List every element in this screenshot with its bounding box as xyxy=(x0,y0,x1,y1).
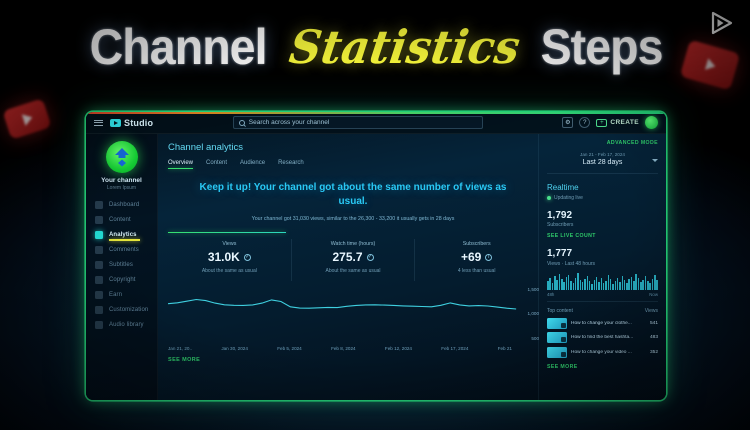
sidebar-item-label: Analytics xyxy=(109,232,137,238)
status-badge: ✓ xyxy=(244,254,251,261)
sidebar-item-content[interactable]: Content xyxy=(86,212,157,227)
video-title: How to find the best hashta... xyxy=(571,335,646,340)
sidebar-item-copyright[interactable]: Copyright xyxy=(86,272,157,287)
analytics-page-title: Channel analytics xyxy=(168,142,538,153)
search-icon xyxy=(239,120,245,126)
title-word-steps: Steps xyxy=(540,18,662,76)
help-icon[interactable]: ? xyxy=(579,117,590,128)
realtime-title: Realtime xyxy=(547,183,658,192)
title-word-channel: Channel xyxy=(90,18,267,76)
studio-sidebar: Your channel Lorem Ipsum Dashboard Conte… xyxy=(86,134,158,400)
studio-topbar: Studio Search across your channel ⚙ ? + … xyxy=(86,112,666,134)
x-tick: Feb 21 xyxy=(498,346,512,351)
sidebar-item-label: Dashboard xyxy=(109,202,139,208)
x-tick: Jan 21, 20.. xyxy=(168,346,192,351)
copyright-icon xyxy=(95,276,103,284)
metric-value: 275.7 xyxy=(332,250,362,264)
metric-card-views[interactable]: Views 31.0K ✓ About the same as usual xyxy=(168,239,292,281)
realtime-views-stat: 1,777 Views · Last 48 hours xyxy=(547,248,658,267)
see-more-link-main[interactable]: SEE MORE xyxy=(168,357,538,363)
dashboard-icon xyxy=(95,201,103,209)
topbar-actions: ⚙ ? + CREATE xyxy=(562,116,658,129)
realtime-panel: ADVANCED MODE Jan 21 - Feb 17, 2024 Last… xyxy=(538,134,666,400)
video-views: 352 xyxy=(650,350,658,355)
sidebar-item-label: Audio library xyxy=(109,322,144,328)
sidebar-item-label: Copyright xyxy=(109,277,136,283)
sidebar-item-earn[interactable]: Earn xyxy=(86,287,157,302)
info-icon: i xyxy=(485,254,492,261)
views-caption: Views · Last 48 hours xyxy=(547,261,658,267)
video-thumbnail xyxy=(547,332,567,343)
x-tick: Feb 8, 2024 xyxy=(331,346,356,351)
axis-label-left: 48h xyxy=(547,292,554,297)
subtitles-icon xyxy=(95,261,103,269)
youtube-play-icon xyxy=(110,119,121,127)
sidebar-item-customization[interactable]: Customization xyxy=(86,302,157,317)
metric-value: +69 xyxy=(461,250,481,264)
top-content-views-label: Views xyxy=(645,308,658,314)
subscribers-value: 1,792 xyxy=(547,210,658,221)
create-button[interactable]: + CREATE xyxy=(596,119,639,127)
comments-icon xyxy=(95,246,103,254)
sidebar-item-comments[interactable]: Comments xyxy=(86,242,157,257)
x-tick: Feb 12, 2024 xyxy=(385,346,412,351)
live-dot-icon xyxy=(547,196,551,200)
metric-note: 4 less than usual xyxy=(415,268,538,274)
analytics-headline: Keep it up! Your channel got about the s… xyxy=(168,181,538,208)
video-thumbnail xyxy=(547,347,567,358)
tab-audience[interactable]: Audience xyxy=(240,160,265,169)
sidebar-item-label: Earn xyxy=(109,292,122,298)
sidebar-item-label: Subtitles xyxy=(109,262,133,268)
sidebar-item-label: Content xyxy=(109,217,131,223)
studio-brand[interactable]: Studio xyxy=(110,118,153,128)
earn-icon xyxy=(95,291,103,299)
views-value: 1,777 xyxy=(547,248,658,259)
channel-name: Your channel xyxy=(86,177,157,184)
studio-wordmark: Studio xyxy=(124,118,153,128)
sidebar-item-dashboard[interactable]: Dashboard xyxy=(86,197,157,212)
advanced-mode-link[interactable]: ADVANCED MODE xyxy=(547,140,658,146)
metric-value-row: 31.0K ✓ xyxy=(168,250,291,264)
chart-x-axis: Jan 21, 20.. Jan 30, 2024 Feb 5, 2024 Fe… xyxy=(168,346,538,351)
metric-cards: Views 31.0K ✓ About the same as usual Wa… xyxy=(168,231,538,281)
chevron-down-icon xyxy=(652,159,658,162)
subscribers-caption: Subscribers xyxy=(547,222,658,228)
tab-research[interactable]: Research xyxy=(278,160,304,169)
analytics-tabs: Overview Content Audience Research xyxy=(168,160,538,169)
channel-subtitle: Lorem Ipsum xyxy=(86,185,157,191)
channel-block[interactable]: Your channel Lorem Ipsum xyxy=(86,141,157,197)
metric-value-row: +69 i xyxy=(415,250,538,264)
realtime-bar-chart-axis: 48h Now xyxy=(547,292,658,302)
see-more-link-right[interactable]: SEE MORE xyxy=(547,364,658,370)
search-placeholder: Search across your channel xyxy=(249,119,330,126)
metric-value-row: 275.7 ✓ xyxy=(292,250,415,264)
video-thumbnail xyxy=(547,318,567,329)
sidebar-item-subtitles[interactable]: Subtitles xyxy=(86,257,157,272)
customization-icon xyxy=(95,306,103,314)
metric-label: Subscribers xyxy=(415,241,538,247)
hamburger-icon[interactable] xyxy=(94,120,103,126)
axis-label-right: Now xyxy=(649,292,658,297)
list-item[interactable]: How to find the best hashta... 483 xyxy=(547,332,658,343)
video-title: How to change your clothe... xyxy=(571,321,646,326)
status-badge: ✓ xyxy=(367,254,374,261)
search-wrap: Search across your channel xyxy=(160,116,555,129)
youtube-studio-window: Studio Search across your channel ⚙ ? + … xyxy=(86,112,666,400)
tab-overview[interactable]: Overview xyxy=(168,160,193,169)
realtime-updating-label: Updating live xyxy=(554,195,583,201)
sidebar-item-audio-library[interactable]: Audio library xyxy=(86,317,157,332)
search-input[interactable]: Search across your channel xyxy=(233,116,483,129)
audio-library-icon xyxy=(95,321,103,329)
x-tick: Jan 30, 2024 xyxy=(221,346,248,351)
video-title: How to change your video ... xyxy=(571,350,646,355)
sidebar-item-label: Comments xyxy=(109,247,139,253)
page-title: Channel Statistics Steps xyxy=(0,18,750,76)
views-line-chart[interactable]: 1,500 1,000 500 xyxy=(168,283,538,345)
metric-label: Watch time (hours) xyxy=(292,241,415,247)
metric-note: About the same as usual xyxy=(292,268,415,274)
date-range-subtitle: Jan 21 - Feb 17, 2024 xyxy=(547,152,658,157)
realtime-bar-chart xyxy=(547,273,658,290)
settings-icon[interactable]: ⚙ xyxy=(562,117,573,128)
avatar[interactable] xyxy=(645,116,658,129)
video-views: 483 xyxy=(650,335,658,340)
active-indicator xyxy=(109,239,140,241)
metric-note: About the same as usual xyxy=(168,268,291,274)
create-button-label: CREATE xyxy=(610,119,639,126)
realtime-subscribers-stat: 1,792 Subscribers xyxy=(547,210,658,229)
see-live-count-link[interactable]: SEE LIVE COUNT xyxy=(547,233,658,239)
metric-card-subscribers[interactable]: Subscribers +69 i 4 less than usual xyxy=(415,239,538,281)
title-word-statistics: Statistics xyxy=(280,20,528,74)
sidebar-item-analytics[interactable]: Analytics xyxy=(86,227,157,242)
top-content-label: Top content xyxy=(547,308,573,314)
analytics-headline-subtitle: Your channel got 31,030 views, similar t… xyxy=(168,216,538,222)
video-camera-plus-icon: + xyxy=(596,119,607,127)
metric-card-watch-time[interactable]: Watch time (hours) 275.7 ✓ About the sam… xyxy=(292,239,416,281)
studio-body: Your channel Lorem Ipsum Dashboard Conte… xyxy=(86,134,666,400)
content-icon xyxy=(95,216,103,224)
top-content-header: Top content Views xyxy=(547,308,658,314)
video-views: 541 xyxy=(650,321,658,326)
analytics-main: Channel analytics Overview Content Audie… xyxy=(158,134,538,400)
metric-label: Views xyxy=(168,241,291,247)
sidebar-item-label: Customization xyxy=(109,307,148,313)
x-tick: Feb 17, 2024 xyxy=(441,346,468,351)
channel-avatar-chevron-icon xyxy=(106,141,138,173)
date-range-selector[interactable]: Jan 21 - Feb 17, 2024 Last 28 days xyxy=(547,152,658,174)
tab-content[interactable]: Content xyxy=(206,160,227,169)
x-tick: Feb 5, 2024 xyxy=(277,346,302,351)
metric-value: 31.0K xyxy=(208,250,240,264)
list-item[interactable]: How to change your video ... 352 xyxy=(547,347,658,358)
analytics-icon xyxy=(95,231,103,239)
realtime-updating-status: Updating live xyxy=(547,195,658,201)
list-item[interactable]: How to change your clothe... 541 xyxy=(547,318,658,329)
date-range-value: Last 28 days xyxy=(547,159,658,166)
